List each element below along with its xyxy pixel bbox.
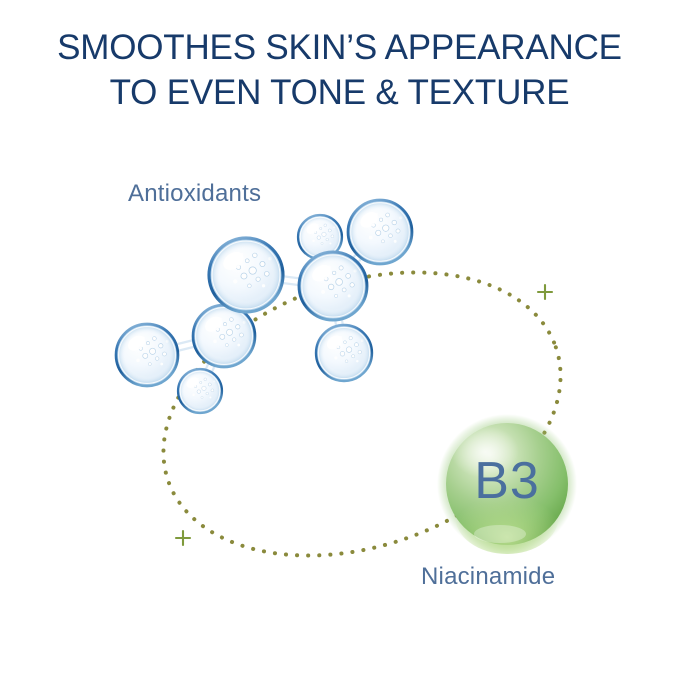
bubble-top-large	[348, 200, 412, 264]
plus-marker-bottom-left	[176, 531, 190, 545]
bubble-mid-lower	[193, 305, 255, 367]
ingredient-illustration	[0, 0, 679, 679]
bubble-left-small	[178, 369, 222, 413]
niacinamide-sphere	[437, 414, 577, 554]
molecule-bubble-group	[116, 200, 412, 413]
bubble-mid-upper	[209, 238, 283, 312]
bubble-left-large	[116, 324, 178, 386]
bubble-center	[299, 252, 367, 320]
infographic-canvas: SMOOTHES SKIN’S APPEARANCE TO EVEN TONE …	[0, 0, 679, 679]
niacinamide-label: Niacinamide	[421, 563, 555, 591]
plus-marker-top-right	[538, 285, 552, 299]
antioxidants-label: Antioxidants	[128, 180, 261, 208]
bubble-lower-right	[316, 325, 372, 381]
